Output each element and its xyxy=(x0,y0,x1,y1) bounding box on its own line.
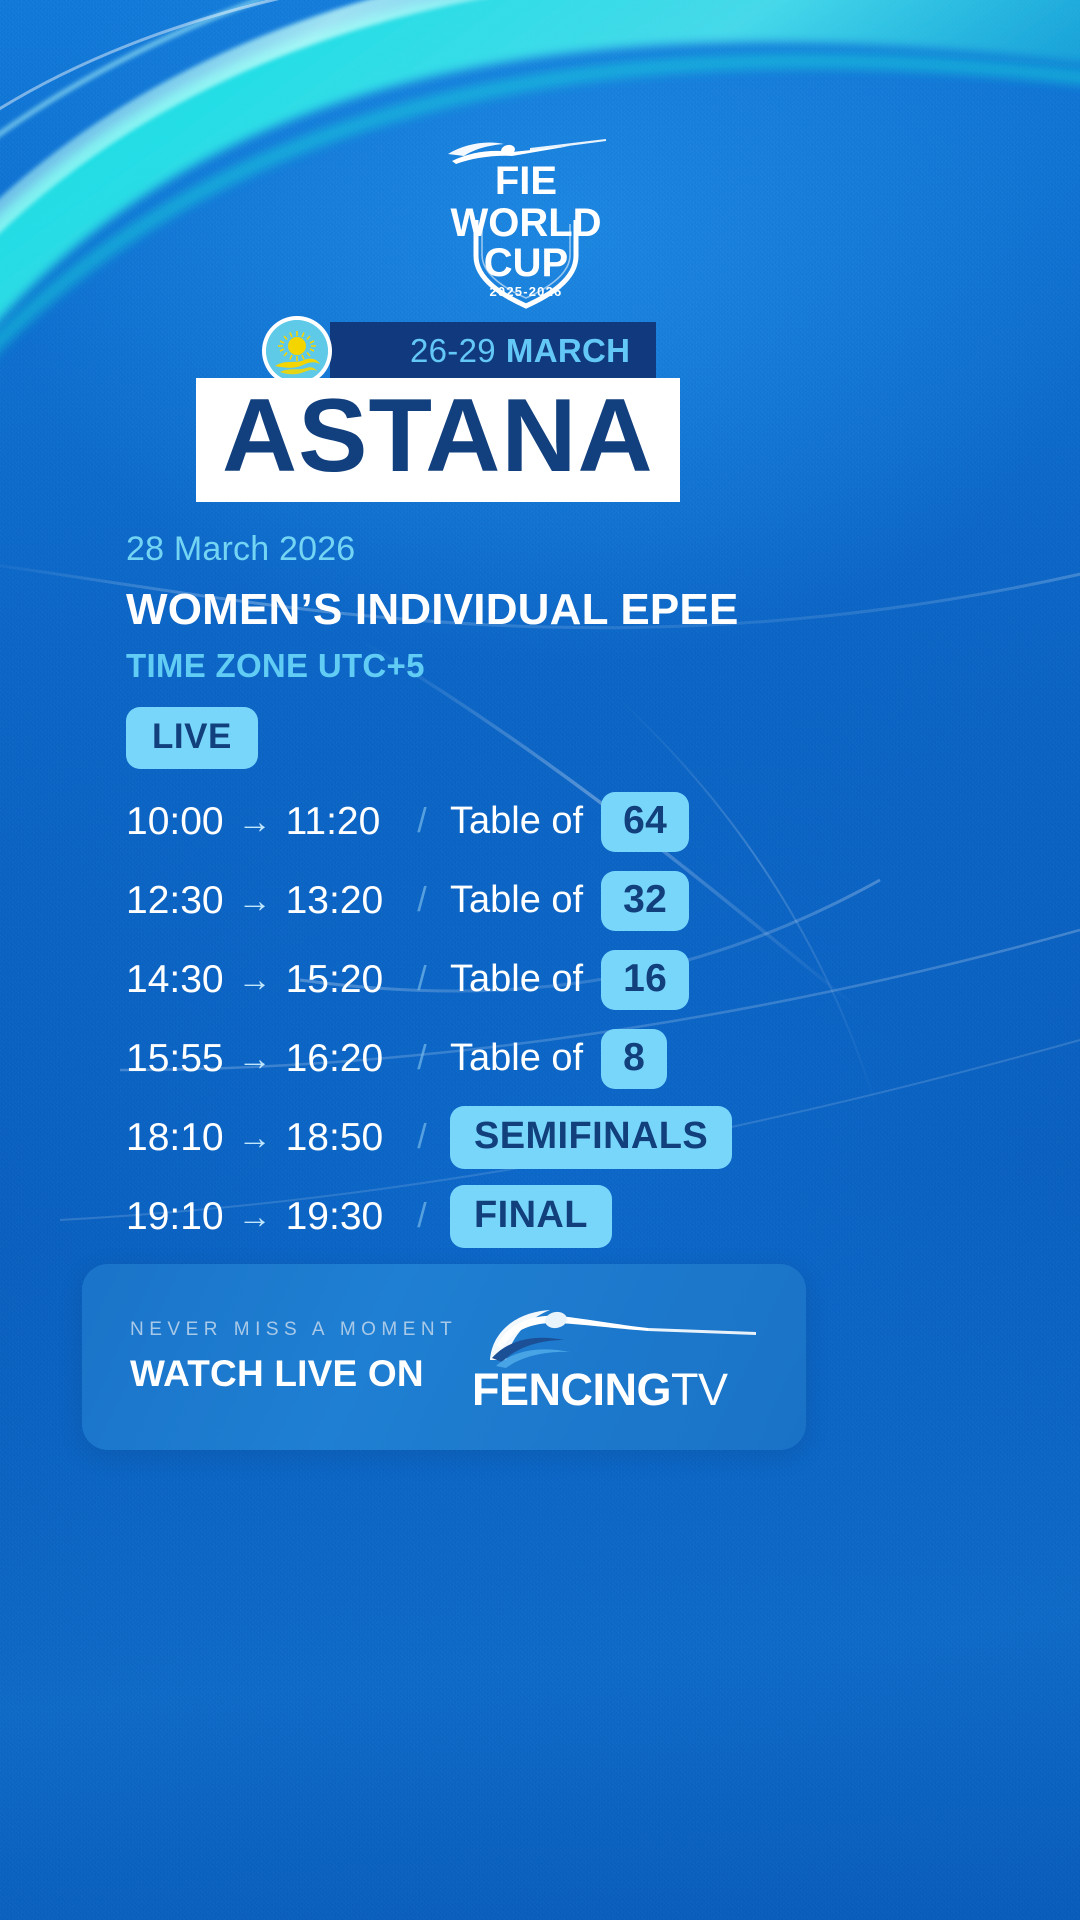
logo-line-cup: CUP xyxy=(484,241,568,285)
fencing-tv-swoosh-icon xyxy=(472,1306,762,1372)
schedule-end-time: 18:50 xyxy=(286,1116,384,1160)
schedule-separator: / xyxy=(394,1118,450,1157)
schedule-round-label: Table of xyxy=(450,800,583,843)
schedule-row-times: 15:55→16:20 xyxy=(126,1037,394,1081)
schedule-separator: / xyxy=(394,802,450,841)
tv-word: TV xyxy=(671,1364,728,1415)
schedule-round-pill: FINAL xyxy=(450,1185,612,1248)
event-title: WOMEN’S INDIVIDUAL EPEE xyxy=(126,585,1006,635)
arrow-right-icon: → xyxy=(238,1042,272,1076)
schedule-row: 18:10→18:50/SEMIFINALS xyxy=(126,1098,1026,1177)
schedule-row-times: 18:10→18:50 xyxy=(126,1116,394,1160)
schedule-list: 10:00→11:20/Table of6412:30→13:20/Table … xyxy=(126,782,1026,1256)
event-date: 28 March 2026 xyxy=(126,530,1006,569)
arrow-right-icon: → xyxy=(238,1200,272,1234)
footer-cta: WATCH LIVE ON xyxy=(130,1353,457,1395)
schedule-round-pill: 8 xyxy=(601,1029,667,1089)
date-month: MARCH xyxy=(506,332,630,370)
watch-live-text: NEVER MISS A MOMENT WATCH LIVE ON xyxy=(82,1319,457,1395)
schedule-end-time: 13:20 xyxy=(286,879,384,923)
schedule-round-label: Table of xyxy=(450,958,583,1001)
arrow-right-icon: → xyxy=(238,1121,272,1155)
logo-line-fie: FIE xyxy=(495,159,557,203)
schedule-row: 19:10→19:30/FINAL xyxy=(126,1177,1026,1256)
event-meta: 28 March 2026 WOMEN’S INDIVIDUAL EPEE TI… xyxy=(126,530,1006,769)
footer-kicker: NEVER MISS A MOMENT xyxy=(130,1319,457,1341)
schedule-row: 15:55→16:20/Table of8 xyxy=(126,1019,1026,1098)
schedule-end-time: 15:20 xyxy=(286,958,384,1002)
watch-live-card[interactable]: NEVER MISS A MOMENT WATCH LIVE ON FENCIN… xyxy=(82,1264,806,1450)
schedule-round-label: Table of xyxy=(450,1037,583,1080)
schedule-row-times: 14:30→15:20 xyxy=(126,958,394,1002)
date-range-bar: 26-29 MARCH xyxy=(330,322,656,380)
schedule-row-times: 10:00→11:20 xyxy=(126,800,394,844)
kazakhstan-flag-icon xyxy=(262,316,332,386)
schedule-separator: / xyxy=(394,1197,450,1236)
schedule-separator: / xyxy=(394,881,450,920)
city-name-box: ASTANA xyxy=(196,378,680,502)
fie-world-cup-logo: FIE WORLD CUP 2025-2026 xyxy=(0,128,1080,318)
logo-season: 2025-2026 xyxy=(490,284,563,299)
logo-line-world: WORLD xyxy=(450,201,601,245)
schedule-start-time: 12:30 xyxy=(126,879,224,923)
schedule-row-times: 19:10→19:30 xyxy=(126,1195,394,1239)
date-range: 26-29 xyxy=(410,332,496,370)
schedule-end-time: 11:20 xyxy=(286,800,381,844)
schedule-start-time: 15:55 xyxy=(126,1037,224,1081)
schedule-row: 12:30→13:20/Table of32 xyxy=(126,861,1026,940)
schedule-round-pill: SEMIFINALS xyxy=(450,1106,732,1169)
schedule-row: 14:30→15:20/Table of16 xyxy=(126,940,1026,1019)
arrow-right-icon: → xyxy=(238,884,272,918)
event-timezone: TIME ZONE UTC+5 xyxy=(126,647,1006,685)
city-name: ASTANA xyxy=(222,384,654,488)
schedule-row-times: 12:30→13:20 xyxy=(126,879,394,923)
schedule-separator: / xyxy=(394,960,450,999)
schedule-start-time: 18:10 xyxy=(126,1116,224,1160)
schedule-start-time: 14:30 xyxy=(126,958,224,1002)
fencing-tv-wordmark: FENCINGTV xyxy=(472,1367,728,1412)
schedule-end-time: 19:30 xyxy=(286,1195,384,1239)
schedule-separator: / xyxy=(394,1039,450,1078)
schedule-round-label: Table of xyxy=(450,879,583,922)
fencing-word: FENCING xyxy=(472,1364,671,1415)
schedule-round-pill: 32 xyxy=(601,871,689,931)
fencing-tv-logo: FENCINGTV xyxy=(472,1306,762,1414)
schedule-start-time: 19:10 xyxy=(126,1195,224,1239)
schedule-end-time: 16:20 xyxy=(286,1037,384,1081)
arrow-right-icon: → xyxy=(238,963,272,997)
schedule-row: 10:00→11:20/Table of64 xyxy=(126,782,1026,861)
schedule-start-time: 10:00 xyxy=(126,800,224,844)
schedule-round-pill: 64 xyxy=(601,792,689,852)
live-badge: LIVE xyxy=(126,707,258,769)
schedule-round-pill: 16 xyxy=(601,950,689,1010)
arrow-right-icon: → xyxy=(238,805,272,839)
